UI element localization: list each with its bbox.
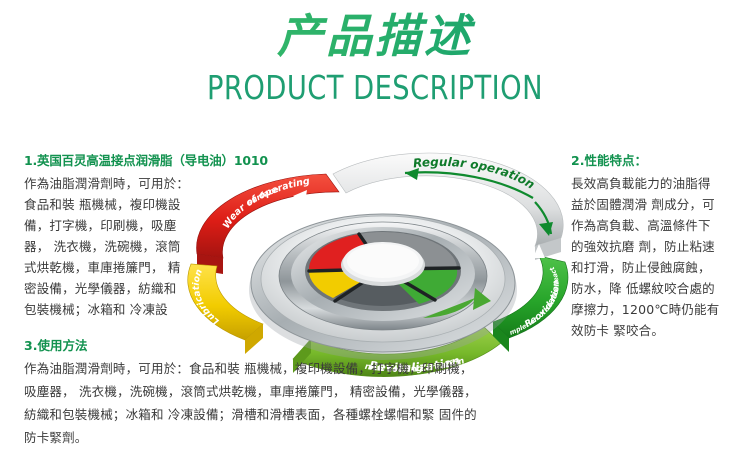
left-line: 式烘乾機，車庫捲簾門， 精 bbox=[24, 257, 216, 278]
left-text-column: 1.英国百灵高温接点润滑脂（导电油）1010 作為油脂潤滑劑時，可用於： 食品和… bbox=[24, 152, 216, 320]
usage-heading: 3.使用方法 bbox=[24, 337, 504, 355]
right-line: 的強效抗磨 劑，防止粘速 bbox=[571, 236, 743, 257]
page-title-chinese: 产品描述 bbox=[0, 12, 750, 60]
right-line: 長效高負載能力的油脂得 bbox=[571, 173, 743, 194]
right-column-body: 長效高負載能力的油脂得 益於固體潤滑 劑成分，可 作為高負載、高溫條件下 的強效… bbox=[571, 173, 743, 341]
usage-line: 作為油脂潤滑劑時，可用於：食品和裝 瓶機械，複印機設備，打字機，印刷機， bbox=[24, 357, 504, 380]
usage-body: 作為油脂潤滑劑時，可用於：食品和裝 瓶機械，複印機設備，打字機，印刷機， 吸塵器… bbox=[24, 357, 504, 449]
left-line: 食品和裝 瓶機械，複印機設 bbox=[24, 194, 216, 215]
right-line: 作為高負載、高溫條件下 bbox=[571, 215, 743, 236]
usage-section: 3.使用方法 作為油脂潤滑劑時，可用於：食品和裝 瓶機械，複印機設備，打字機，印… bbox=[24, 337, 504, 449]
left-column-body: 作為油脂潤滑劑時，可用於： 食品和裝 瓶機械，複印機設 備，打字機，印刷機，吸塵… bbox=[24, 173, 216, 320]
right-line: 益於固體潤滑 劑成分，可 bbox=[571, 194, 743, 215]
page-header: 产品描述 PRODUCT DESCRIPTION bbox=[0, 0, 750, 120]
left-line: 器， 洗衣機，洗碗機，滾筒 bbox=[24, 236, 216, 257]
left-line: 密設備，光學儀器，紡織和 bbox=[24, 278, 216, 299]
right-column-heading: 2.性能特点： bbox=[571, 152, 743, 170]
left-line: 備，打字機，印刷機，吸塵 bbox=[24, 215, 216, 236]
usage-line: 吸塵器， 洗衣機，洗碗機，滾筒式烘乾機，車庫捲簾門， 精密設備，光學儀器， bbox=[24, 380, 504, 403]
product-description-page: 产品描述 PRODUCT DESCRIPTION bbox=[0, 0, 750, 453]
right-line: 和打滑，防止侵蝕腐蝕， bbox=[571, 257, 743, 278]
right-line: 防水，降 低螺紋咬合處的 bbox=[571, 278, 743, 299]
arrow-head-red-left bbox=[229, 228, 243, 241]
right-line: 摩擦力，1200℃時仍能有 bbox=[571, 299, 743, 320]
right-text-column: 2.性能特点： 長效高負載能力的油脂得 益於固體潤滑 劑成分，可 作為高負載、高… bbox=[571, 152, 743, 341]
usage-line: 防卡緊劑。 bbox=[24, 426, 504, 449]
left-line: 包裝機械；冰箱和 冷凍設 bbox=[24, 299, 216, 320]
left-line: 作為油脂潤滑劑時，可用於： bbox=[24, 173, 216, 194]
right-line: 效防卡 緊咬合。 bbox=[571, 320, 743, 341]
page-title-english: PRODUCT DESCRIPTION bbox=[30, 68, 720, 107]
left-column-heading: 1.英国百灵高温接点润滑脂（导电油）1010 bbox=[24, 152, 216, 170]
usage-line: 紡織和包裝機械；冰箱和 冷凍設備；滑槽和滑槽表面，各種螺栓螺帽和緊 固件的 bbox=[24, 403, 504, 426]
